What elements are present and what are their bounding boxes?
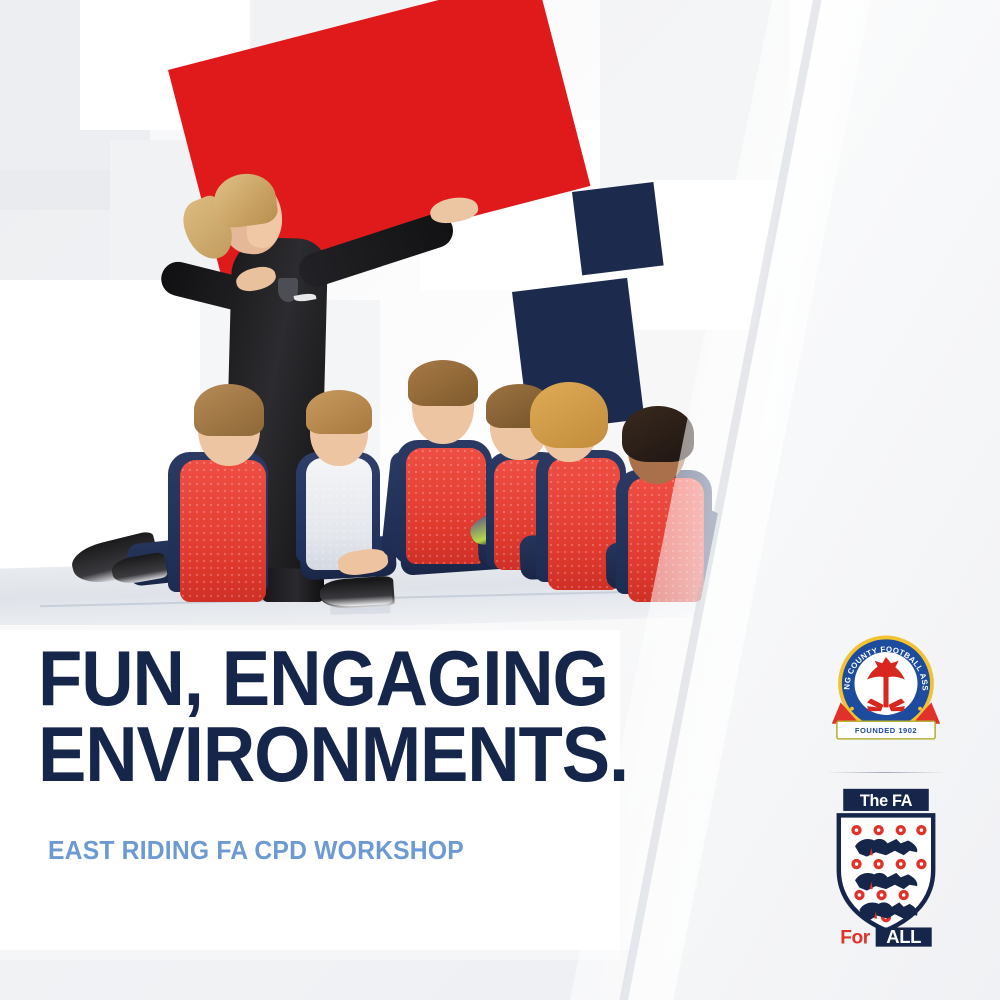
- page-title: FUN, ENGAGING ENVIRONMENTS.: [38, 640, 633, 793]
- fa-strapline-for: For: [840, 928, 871, 947]
- child-hair: [530, 382, 608, 448]
- logo-divider: [826, 772, 946, 773]
- poster-canvas: FUN, ENGAGING ENVIRONMENTS. EAST RIDING …: [0, 0, 1000, 1000]
- child-training-bib: [406, 448, 486, 564]
- logo-column: EAST RIDING COUNTY FOOTBALL ASSOCIATION …: [810, 628, 962, 947]
- the-fa-crest: The FA: [827, 787, 945, 947]
- coach-hair: [211, 170, 280, 230]
- child-hair: [306, 390, 372, 434]
- bg-block: [0, 950, 640, 1000]
- three-lions: [855, 839, 917, 920]
- child-training-bib: [180, 460, 266, 602]
- coach-pointing-hand: [428, 193, 480, 226]
- child-hair: [408, 360, 478, 406]
- subtitle: EAST RIDING FA CPD WORKSHOP: [48, 835, 647, 866]
- coach-right-arm: [295, 209, 458, 291]
- copy-block: FUN, ENGAGING ENVIRONMENTS. EAST RIDING …: [38, 640, 678, 866]
- fa-banner-text: The FA: [860, 792, 913, 810]
- child-hair: [194, 384, 264, 436]
- child-shoe: [319, 578, 392, 608]
- fa-strapline-all: ALL: [886, 926, 921, 947]
- east-riding-county-fa-badge: EAST RIDING COUNTY FOOTBALL ASSOCIATION …: [823, 628, 949, 754]
- badge-banner-text: FOUNDED 1902: [855, 726, 917, 735]
